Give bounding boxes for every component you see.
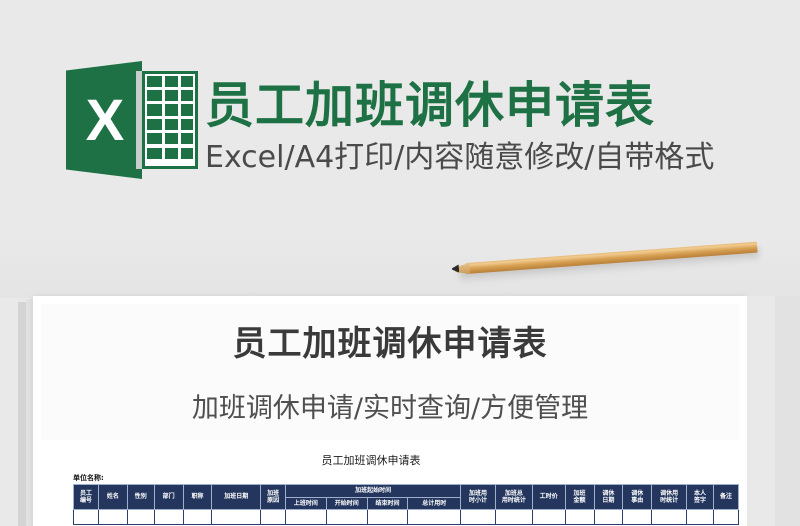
col-header-left-4: 职称	[183, 485, 212, 510]
table-cell[interactable]	[495, 510, 532, 525]
excel-logo-sheet	[142, 71, 198, 169]
col-header-group-3: 总计用时	[408, 497, 461, 510]
table-cell[interactable]	[565, 510, 594, 525]
table-cell[interactable]	[98, 510, 127, 525]
overtime-table: 员工编号姓名性别部门职称加班日期加班原因加班起始时间加班用时小计加班总用时统计工…	[73, 484, 739, 525]
table-cell[interactable]	[532, 510, 565, 525]
col-header-right-5: 调休事由	[623, 485, 652, 510]
banner-subtitle: Excel/A4打印/内容随意修改/自带格式	[205, 132, 714, 176]
card-right-gap	[747, 296, 775, 526]
sheet-doc-title: 员工加班调休申请表	[41, 452, 701, 468]
preview-subtitle: 加班调休申请/实时查询/方便管理	[33, 386, 747, 425]
col-header-group-2: 结束时间	[367, 497, 408, 510]
excel-logo-icon: X	[66, 57, 198, 183]
table-row[interactable]	[74, 510, 739, 525]
adjacent-panel	[775, 296, 800, 526]
col-header-right-8: 备注	[713, 485, 738, 510]
pencil-lead	[452, 263, 460, 274]
table-cell[interactable]	[594, 510, 623, 525]
col-header-right-6: 调休用时统计	[652, 485, 687, 510]
unit-name-label: 单位名称:	[73, 473, 104, 483]
col-header-right-4: 调休日期	[594, 485, 623, 510]
table-cell[interactable]	[212, 510, 261, 525]
table-cell[interactable]	[127, 510, 154, 525]
table-cell[interactable]	[367, 510, 408, 525]
table-cell[interactable]	[652, 510, 687, 525]
table-cell[interactable]	[74, 510, 99, 525]
col-header-left-3: 部门	[154, 485, 183, 510]
col-header-right-0: 加班用时小计	[461, 485, 496, 510]
banner-title: 员工加班调休申请表	[205, 66, 655, 137]
excel-logo-letter: X	[66, 61, 142, 179]
col-header-right-3: 加班金额	[565, 485, 594, 510]
spreadsheet-preview: 员工加班调休申请表 单位名称: 员工编号姓名性别部门职称加班日期加班原因加班起始…	[41, 440, 739, 526]
col-header-left-0: 员工编号	[74, 485, 99, 510]
col-header-right-2: 工时价	[532, 485, 565, 510]
table-cell[interactable]	[183, 510, 212, 525]
col-header-group-0: 上班时间	[286, 497, 327, 510]
col-header-left-2: 性别	[127, 485, 154, 510]
table-cell[interactable]	[461, 510, 496, 525]
col-group-header: 加班起始时间	[286, 485, 461, 498]
table-cell[interactable]	[154, 510, 183, 525]
promo-banner: X 员工加班调休申请表 Excel/A4打印/内容随意修改/自带格式	[0, 0, 800, 236]
table-header-row-1: 员工编号姓名性别部门职称加班日期加班原因加班起始时间加班用时小计加班总用时统计工…	[74, 485, 739, 498]
screenshot-stage: X 员工加班调休申请表 Excel/A4打印/内容随意修改/自带格式 员工加班调…	[0, 0, 800, 526]
col-header-left-1: 姓名	[98, 485, 127, 510]
col-header-left-6: 加班原因	[261, 485, 286, 510]
table-cell[interactable]	[687, 510, 714, 525]
table-cell[interactable]	[408, 510, 461, 525]
preview-title: 员工加班调休申请表	[33, 316, 747, 365]
table-cell[interactable]	[623, 510, 652, 525]
table-cell[interactable]	[713, 510, 738, 525]
col-header-left-5: 加班日期	[212, 485, 261, 510]
table-cell[interactable]	[286, 510, 327, 525]
table-cell[interactable]	[326, 510, 367, 525]
pencil-icon	[452, 252, 768, 288]
col-header-group-1: 开始时间	[326, 497, 367, 510]
col-header-right-1: 加班总用时统计	[495, 485, 532, 510]
table-cell[interactable]	[261, 510, 286, 525]
col-header-right-7: 本人签字	[687, 485, 714, 510]
